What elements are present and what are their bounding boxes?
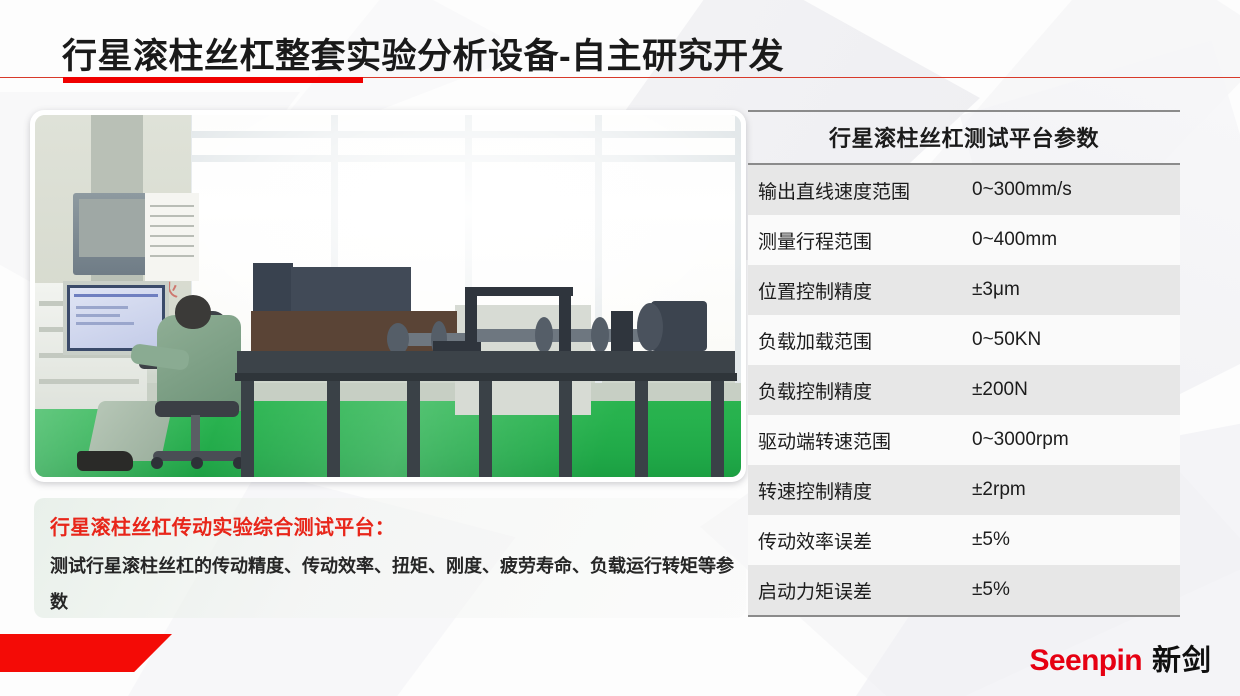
table-bottom-rule: [748, 615, 1180, 617]
photo-motor-flange: [637, 303, 663, 351]
table-cell-value: 0~3000rpm: [972, 429, 1069, 451]
photo-screen-line: [76, 314, 120, 317]
table-cell-value: ±5%: [972, 529, 1010, 551]
caption-body: 测试行星滚柱丝杠的传动精度、传动效率、扭矩、刚度、疲劳寿命、负载运行转矩等参数: [50, 548, 750, 620]
table-cell-label: 转速控制精度: [748, 477, 972, 504]
table-body: 输出直线速度范围0~300mm/s测量行程范围0~400mm位置控制精度±3μm…: [748, 165, 1180, 615]
table-row: 输出直线速度范围0~300mm/s: [748, 165, 1180, 215]
slide-canvas: 行星滚柱丝杠整套实验分析设备-自主研究开发: [0, 0, 1240, 696]
table-cell-label: 负载加载范围: [748, 327, 972, 354]
photo-support-post: [559, 291, 571, 353]
photo-support-beam: [465, 287, 573, 296]
table-row: 传动效率误差±5%: [748, 515, 1180, 565]
photo-chair-caster: [151, 457, 163, 469]
photo-screen-titlebar: [74, 294, 158, 297]
photo-rig-housing: [291, 267, 411, 315]
photo-notice-line: [150, 235, 194, 237]
photo-wall-notice: [145, 193, 199, 281]
photo-lcd-monitor: [63, 281, 169, 355]
photo-bench-leg: [635, 381, 648, 477]
table-cell-label: 启动力矩误差: [748, 577, 972, 604]
table-cell-label: 驱动端转速范围: [748, 427, 972, 454]
photo-support-post: [465, 291, 477, 353]
table-cell-label: 负载控制精度: [748, 377, 972, 404]
caption-title: 行星滚柱丝杠传动实验综合测试平台：: [50, 511, 395, 540]
photo-screen-line: [76, 322, 134, 325]
photo-coupling-disc: [535, 317, 553, 353]
table-cell-value: ±2rpm: [972, 479, 1026, 501]
photo-notice-line: [150, 255, 194, 257]
equipment-photo: 消 火: [35, 115, 741, 477]
logo-wordmark-en: Seenpin: [1029, 644, 1142, 678]
table-row: 测量行程范围0~400mm: [748, 215, 1180, 265]
table-cell-label: 传动效率误差: [748, 527, 972, 554]
page-title: 行星滚柱丝杠整套实验分析设备-自主研究开发: [62, 28, 784, 79]
table-cell-value: ±5%: [972, 579, 1010, 601]
photo-screen-line: [76, 306, 128, 309]
title-underline-accent: [63, 77, 363, 83]
photo-operator-shoe: [77, 451, 133, 471]
photo-lcd-screen: [70, 288, 162, 348]
photo-bench-leg: [711, 381, 724, 477]
table-row: 位置控制精度±3μm: [748, 265, 1180, 315]
table-cell-label: 位置控制精度: [748, 277, 972, 304]
photo-bench-top: [237, 351, 735, 373]
photo-sensor-block: [611, 311, 633, 353]
photo-notice-line: [150, 245, 194, 247]
photo-bench-leg: [407, 381, 420, 477]
table-cell-value: 0~300mm/s: [972, 179, 1072, 201]
table-cell-value: 0~50KN: [972, 329, 1041, 351]
parameter-table: 行星滚柱丝杠测试平台参数 输出直线速度范围0~300mm/s测量行程范围0~40…: [748, 110, 1180, 617]
logo-wordmark-cn: 新剑: [1152, 637, 1212, 679]
photo-cabinet-drawer: [39, 379, 139, 384]
photo-bench-leg: [559, 381, 572, 477]
photo-bench-edge: [235, 373, 737, 381]
table-row: 转速控制精度±2rpm: [748, 465, 1180, 515]
photo-notice-line: [150, 225, 194, 227]
photo-bench-leg: [241, 381, 254, 477]
table-row: 负载控制精度±200N: [748, 365, 1180, 415]
photo-coupling-disc: [591, 317, 609, 353]
table-cell-value: ±3μm: [972, 279, 1020, 301]
company-logo: Seenpin 新剑: [1029, 637, 1212, 679]
table-cell-label: 输出直线速度范围: [748, 177, 972, 204]
table-header: 行星滚柱丝杠测试平台参数: [748, 112, 1180, 163]
table-row: 启动力矩误差±5%: [748, 565, 1180, 615]
table-row: 驱动端转速范围0~3000rpm: [748, 415, 1180, 465]
table-cell-value: ±200N: [972, 379, 1028, 401]
table-row: 负载加载范围0~50KN: [748, 315, 1180, 365]
equipment-photo-frame: 消 火: [30, 110, 746, 482]
table-cell-label: 测量行程范围: [748, 227, 972, 254]
photo-operator-head: [175, 295, 211, 329]
photo-notice-line: [150, 215, 194, 217]
footer-accent-shape: [0, 634, 172, 672]
photo-chair-caster: [191, 457, 203, 469]
photo-notice-line: [150, 205, 194, 207]
photo-bench-leg: [327, 381, 340, 477]
table-cell-value: 0~400mm: [972, 229, 1057, 251]
photo-bench-leg: [479, 381, 492, 477]
